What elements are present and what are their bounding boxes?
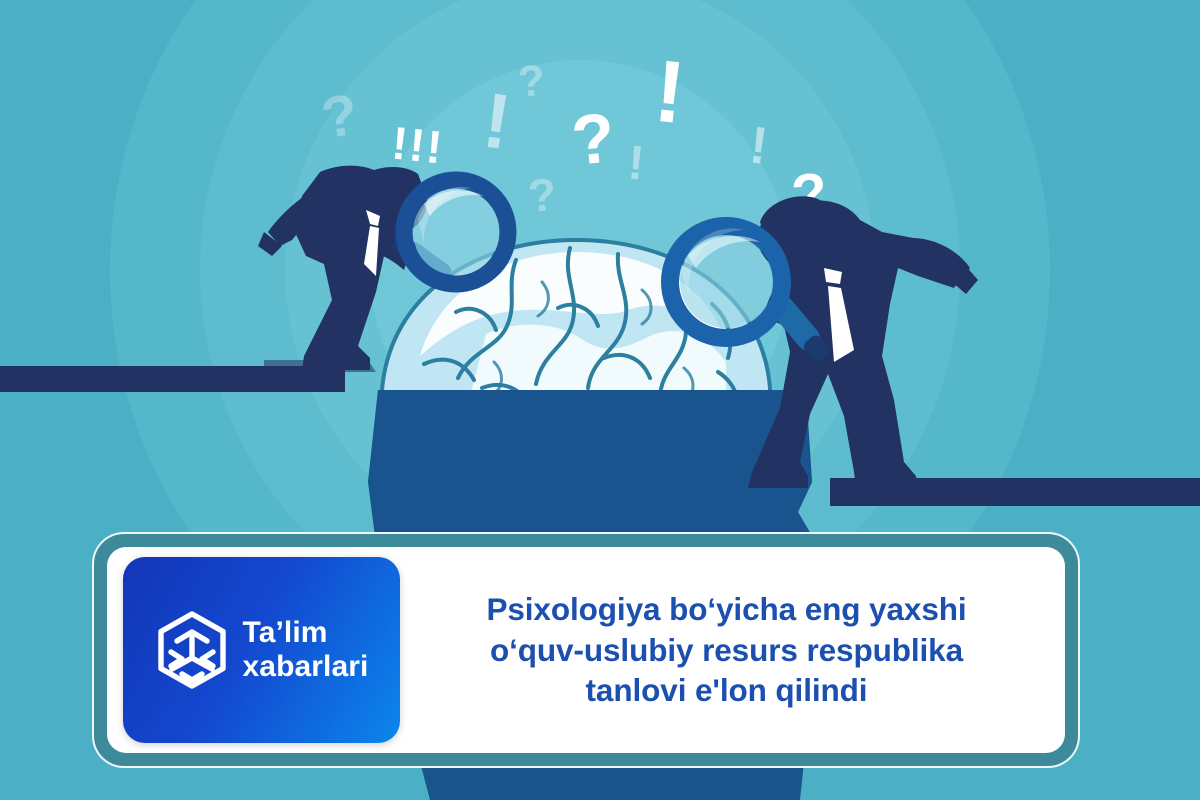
headline-card: Ta’lim xabarlari Psixologiya bo‘yicha en… (94, 534, 1078, 766)
headline-card-inner: Ta’lim xabarlari Psixologiya bo‘yicha en… (107, 547, 1065, 753)
headline-line-3: tanlovi e'lon qilindi (422, 670, 1031, 711)
question-mark-icon-8: ? (526, 171, 558, 219)
brand-line-2: xabarlari (243, 650, 369, 684)
poster-canvas: ?!?!?!!??!!! (0, 0, 1200, 800)
brand-line-1: Ta’lim (243, 616, 369, 650)
brand-logo-text: Ta’lim xabarlari (243, 616, 369, 684)
brand-logo-tile[interactable]: Ta’lim xabarlari (123, 557, 400, 743)
exclamation-mark-icon-6: ! (626, 139, 646, 188)
question-mark-icon-1: ? (318, 86, 362, 149)
exclamation-mark-icon-4: ! (650, 47, 688, 138)
headline-line-1: Psixologiya bo‘yicha eng yaxshi (422, 589, 1031, 630)
headline-line-2: o‘quv-uslubiy resurs respublika (422, 630, 1031, 671)
question-mark-icon-5: ? (568, 102, 618, 176)
figure-left-investigator (258, 160, 528, 385)
exclamation-mark-icon-7: ! (747, 119, 771, 173)
cube-logo-icon (155, 610, 229, 690)
headline-text: Psixologiya bo‘yicha eng yaxshio‘quv-usl… (400, 589, 1065, 712)
figure-right-investigator (668, 176, 978, 496)
question-mark-icon-3: ? (516, 59, 546, 105)
exclamation-mark-icon-2: ! (479, 81, 516, 162)
